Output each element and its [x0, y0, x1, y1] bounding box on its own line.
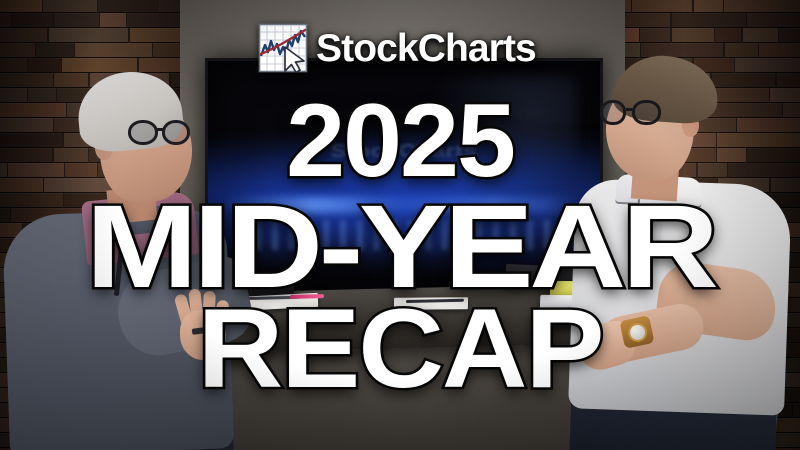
title-line-midyear: MID-YEAR — [0, 196, 800, 300]
wood-plank — [75, 43, 152, 57]
wood-plank — [100, 13, 126, 27]
wood-plank — [0, 43, 35, 57]
video-thumbnail: StockCharts — [0, 0, 800, 450]
wood-plank — [632, 0, 692, 12]
wood-plank — [779, 28, 800, 42]
wood-plank — [43, 0, 97, 12]
wood-plank — [743, 28, 779, 42]
wood-plank — [715, 28, 742, 42]
wood-plank — [98, 0, 157, 12]
wood-plank — [54, 13, 98, 27]
wood-plank — [640, 28, 670, 42]
wood-plank — [49, 28, 129, 42]
wood-plank — [724, 0, 800, 12]
wood-plank — [36, 43, 74, 57]
title-line-year: 2025 — [0, 96, 800, 188]
wood-plank — [672, 13, 746, 27]
wood-plank — [12, 13, 53, 27]
stockcharts-logo: StockCharts — [258, 20, 536, 76]
stockcharts-chart-cursor-icon — [258, 23, 308, 73]
wood-plank — [0, 13, 11, 27]
stockcharts-wordmark: StockCharts — [316, 29, 536, 68]
title-line-recap: RECAP — [0, 300, 800, 399]
wood-plank — [747, 13, 800, 27]
wood-plank — [694, 0, 724, 12]
wood-plank — [672, 28, 714, 42]
wood-plank — [0, 0, 42, 12]
wood-plank — [0, 28, 47, 42]
